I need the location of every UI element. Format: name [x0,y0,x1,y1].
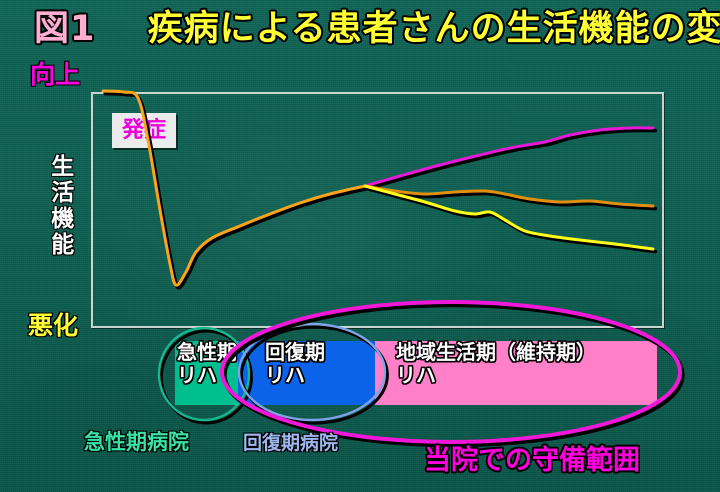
page-title: 図1 疾病による患者さんの生活機能の変化 [34,12,720,47]
footer-label-clinic-scope: 当院での守備範囲 [424,447,640,474]
onset-callout: 発症 [112,113,176,148]
slide-canvas: 図1 疾病による患者さんの生活機能の変化 向上 悪化 生活機能 発症 急性期 リ… [0,0,720,492]
title-text: 疾病による患者さんの生活機能の変化 [148,9,720,49]
band-label-community-line2: リハ [396,364,596,387]
footer-label-acute-hospital: 急性期病院 [84,432,189,453]
axis-label-top: 向上 [30,62,80,87]
band-label-community: 地域生活期（維持期） リハ [396,341,596,387]
onset-label: 発症 [122,120,166,142]
band-label-acute-line1: 急性期 [177,341,237,364]
band-label-recovery-line1: 回復期 [265,341,325,364]
plot-frame [91,92,664,328]
band-label-community-line1: 地域生活期（維持期） [396,341,596,364]
axis-label-bottom: 悪化 [28,313,78,338]
band-label-recovery-line2: リハ [265,364,325,387]
axis-label-vertical: 生活機能 [46,154,72,258]
figure-number: 図1 [34,9,95,49]
band-label-acute-line2: リハ [177,364,237,387]
band-label-recovery: 回復期 リハ [265,341,325,387]
band-label-acute: 急性期 リハ [177,341,237,387]
footer-label-recovery-hospital: 回復期病院 [243,434,338,453]
